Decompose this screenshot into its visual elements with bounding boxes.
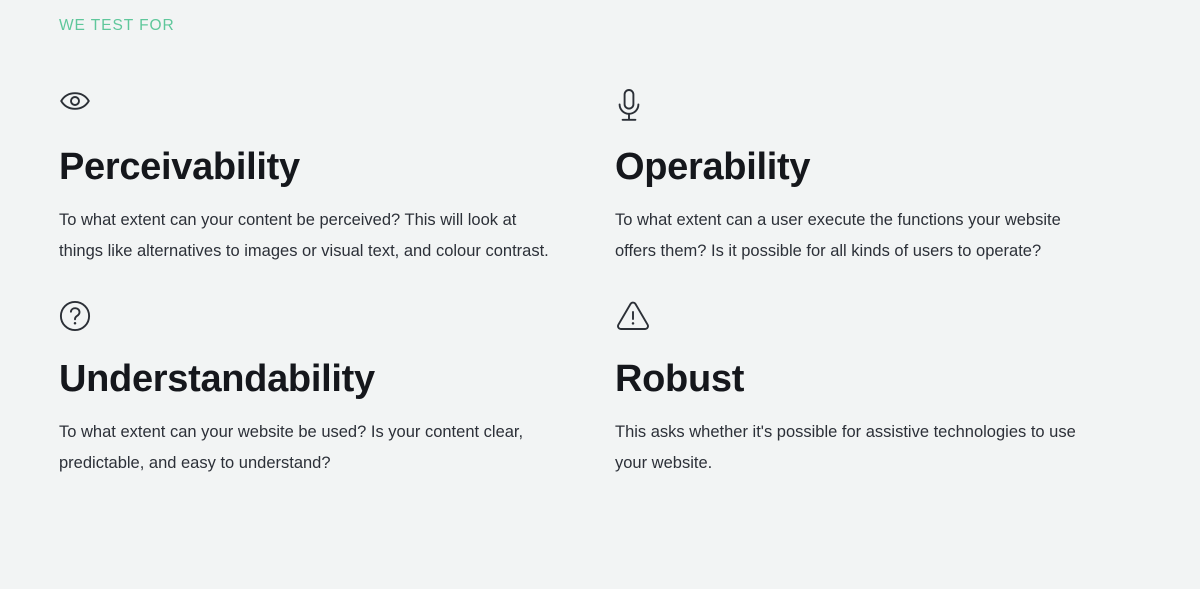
card-operability: Operability To what extent can a user ex… [615,88,1141,266]
card-description: This asks whether it's possible for assi… [615,402,1105,478]
question-circle-icon [59,300,585,346]
card-understandability: Understandability To what extent can you… [59,300,615,478]
criteria-card-grid: Perceivability To what extent can your c… [59,88,1141,478]
card-title: Operability [615,134,1111,190]
card-description: To what extent can your content be perce… [59,190,559,266]
warning-triangle-icon [615,300,1111,346]
card-title: Understandability [59,346,585,402]
card-robust: Robust This asks whether it's possible f… [615,300,1141,478]
we-test-for-section: WE TEST FOR Perceivability To what exten… [0,0,1200,589]
microphone-icon [615,88,1111,134]
card-description: To what extent can a user execute the fu… [615,190,1105,266]
card-perceivability: Perceivability To what extent can your c… [59,88,615,266]
card-title: Perceivability [59,134,585,190]
card-description: To what extent can your website be used?… [59,402,559,478]
eye-icon [59,88,585,134]
section-eyebrow: WE TEST FOR [59,16,175,36]
card-title: Robust [615,346,1111,402]
